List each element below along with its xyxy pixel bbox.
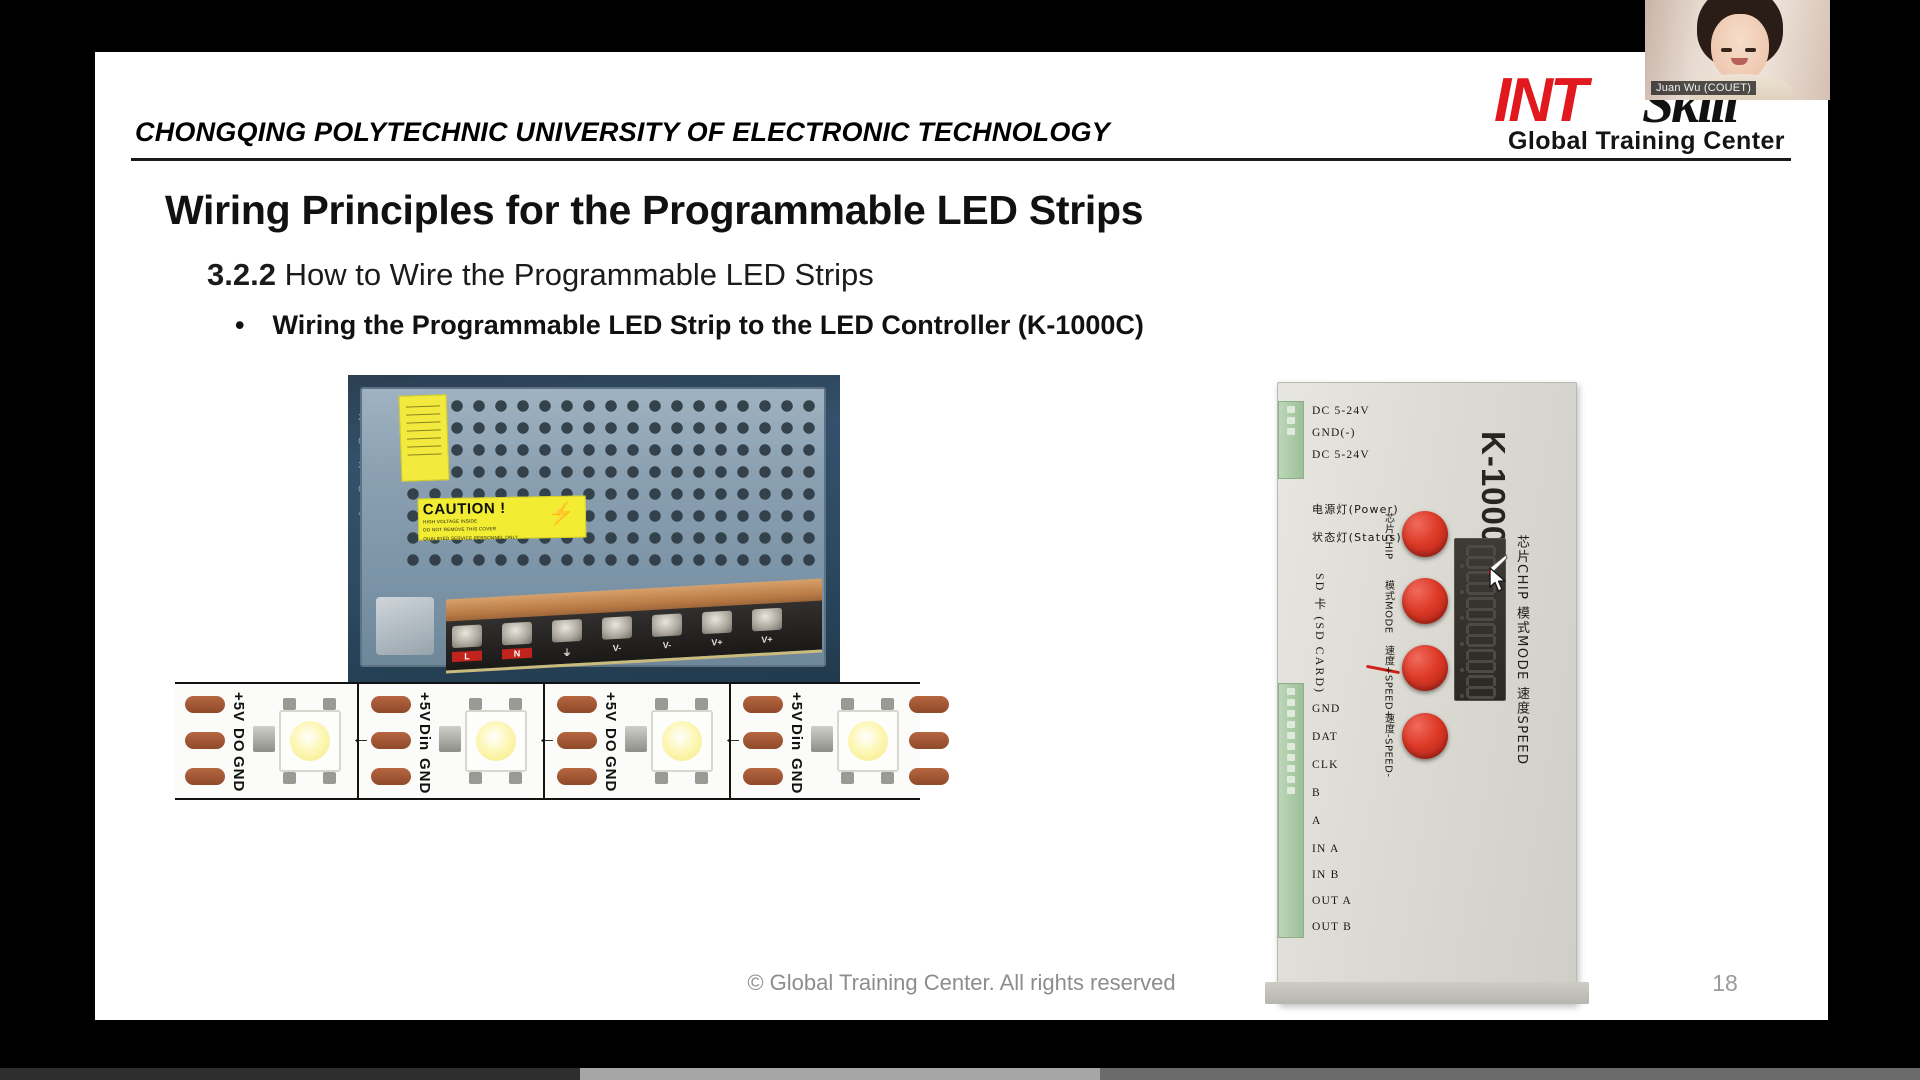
ventilation-holes: [406, 399, 818, 574]
strip-segment: +5V Din GND ←: [733, 684, 919, 798]
speed-down-button[interactable]: [1402, 713, 1448, 759]
presentation-slide: CHONGQING POLYTECHNIC UNIVERSITY OF ELEC…: [95, 52, 1828, 1020]
terminal-label-1: N: [502, 648, 532, 660]
mouse-cursor-icon: [1488, 567, 1508, 593]
strip-segment: +5V DO GND: [175, 684, 361, 798]
strip-label-din: Din: [789, 724, 804, 751]
strip-segment: +5V Din GND ←: [361, 684, 547, 798]
strip-label-5v: +5V: [231, 692, 246, 722]
controller-label-gnd2: GND: [1312, 703, 1341, 715]
psu-metal-case: CAUTION ! HIGH VOLTAGE INSIDE DO NOT REM…: [360, 387, 826, 667]
webcam-overlay[interactable]: Juan Wu (COUET): [1645, 0, 1830, 100]
bullet-label: Wiring the Programmable LED Strip to the…: [273, 310, 1144, 340]
slide-title: Wiring Principles for the Programmable L…: [165, 187, 1143, 234]
strip-label-gnd: GND: [231, 756, 246, 792]
flow-arrow-icon: ←: [723, 728, 743, 748]
controller-label-in-b: IN B: [1312, 869, 1339, 881]
controller-label-out-b: OUT B: [1312, 921, 1352, 933]
participant-face: [1711, 14, 1769, 82]
logo-int-text: INT: [1494, 65, 1585, 136]
flow-arrow-icon: ←: [351, 728, 371, 748]
controller-case: DC 5-24V GND(-) DC 5-24V 电源灯(Power) 状态灯(…: [1277, 382, 1577, 1004]
power-supply-photo: 211B 0.9185 3.95 0.1225 4.25 CAUTION ! H…: [348, 375, 840, 731]
controller-label-out-a: OUT A: [1312, 895, 1352, 907]
mode-button[interactable]: [1402, 578, 1448, 624]
yellow-sticker: [399, 394, 450, 482]
chip-button[interactable]: [1402, 511, 1448, 557]
controller-label-b: B: [1312, 787, 1321, 799]
terminal-label-0: L: [452, 650, 482, 662]
led-controller-photo: DC 5-24V GND(-) DC 5-24V 电源灯(Power) 状态灯(…: [1255, 382, 1595, 1027]
terminal-label-5: V+: [702, 637, 732, 649]
screen-root: CHONGQING POLYTECHNIC UNIVERSITY OF ELEC…: [0, 0, 1920, 1080]
speed-up-button[interactable]: [1402, 645, 1448, 691]
section-number: 3.2.2: [207, 257, 276, 292]
strip-segment: +5V DO GND ←: [547, 684, 733, 798]
slide-subtitle: 3.2.2 How to Wire the Programmable LED S…: [207, 257, 874, 293]
bullet-marker: •: [235, 310, 265, 341]
strip-label-5v: +5V: [417, 692, 432, 722]
strip-label-din: Din: [417, 724, 432, 751]
signal-connector: [1278, 683, 1304, 938]
controller-label-gnd: GND(-): [1312, 427, 1356, 439]
controller-label-a: A: [1312, 815, 1322, 827]
strip-label-gnd: GND: [789, 758, 804, 794]
strip-label-do: DO: [603, 728, 618, 753]
strip-label-5v: +5V: [789, 692, 804, 722]
controller-label-dat: DAT: [1312, 731, 1338, 743]
strip-label-gnd: GND: [417, 758, 432, 794]
section-title: How to Wire the Programmable LED Strips: [285, 257, 874, 292]
horizontal-scrollbar[interactable]: [0, 1068, 1920, 1080]
strip-label-5v: +5V: [603, 692, 618, 722]
controller-label-sd-card: SD 卡 (SD CARD): [1312, 573, 1326, 694]
mode-button-label: 模式MODE: [1382, 580, 1394, 634]
slide-page-number: 18: [1685, 970, 1765, 997]
controller-label-clk: CLK: [1312, 759, 1339, 771]
chip-button-label: 芯片CHIP: [1382, 513, 1394, 559]
scrollbar-thumb[interactable]: [580, 1068, 1100, 1080]
terminal-label-3: V-: [602, 642, 632, 654]
psu-side-bracket: [376, 597, 434, 655]
strip-label-do: DO: [231, 728, 246, 753]
controller-label-in-a: IN A: [1312, 843, 1339, 855]
terminal-label-4: V-: [652, 639, 682, 651]
controller-label-dc2: DC 5-24V: [1312, 449, 1370, 461]
slide-footer: © Global Training Center. All rights res…: [95, 970, 1828, 996]
participant-name-label: Juan Wu (COUET): [1651, 81, 1756, 95]
display-side-label: 芯片CHIP 模式MODE 速度SPEED: [1512, 535, 1531, 766]
speed-down-button-label: 速度-SPEED-: [1382, 713, 1394, 777]
flow-arrow-icon: ←: [537, 728, 557, 748]
bullet-line: • Wiring the Programmable LED Strip to t…: [235, 310, 1144, 341]
university-name: CHONGQING POLYTECHNIC UNIVERSITY OF ELEC…: [135, 117, 1255, 148]
led-strip-photo: +5V DO GND +5V Din GND ←: [175, 682, 920, 800]
terminal-label-2: ⏚: [552, 645, 582, 660]
terminal-label-6: V+: [752, 634, 782, 646]
caution-label: CAUTION ! HIGH VOLTAGE INSIDE DO NOT REM…: [418, 496, 587, 541]
scrollbar-track-right[interactable]: [1100, 1068, 1920, 1080]
lightning-bolt-icon: ⚡: [547, 503, 575, 525]
strip-label-gnd: GND: [603, 756, 618, 792]
logo-subtitle: Global Training Center: [1508, 127, 1785, 156]
power-connector: [1278, 401, 1304, 479]
controller-label-dc1: DC 5-24V: [1312, 405, 1370, 417]
speed-up-button-label: 速度+SPEED+: [1382, 645, 1394, 719]
